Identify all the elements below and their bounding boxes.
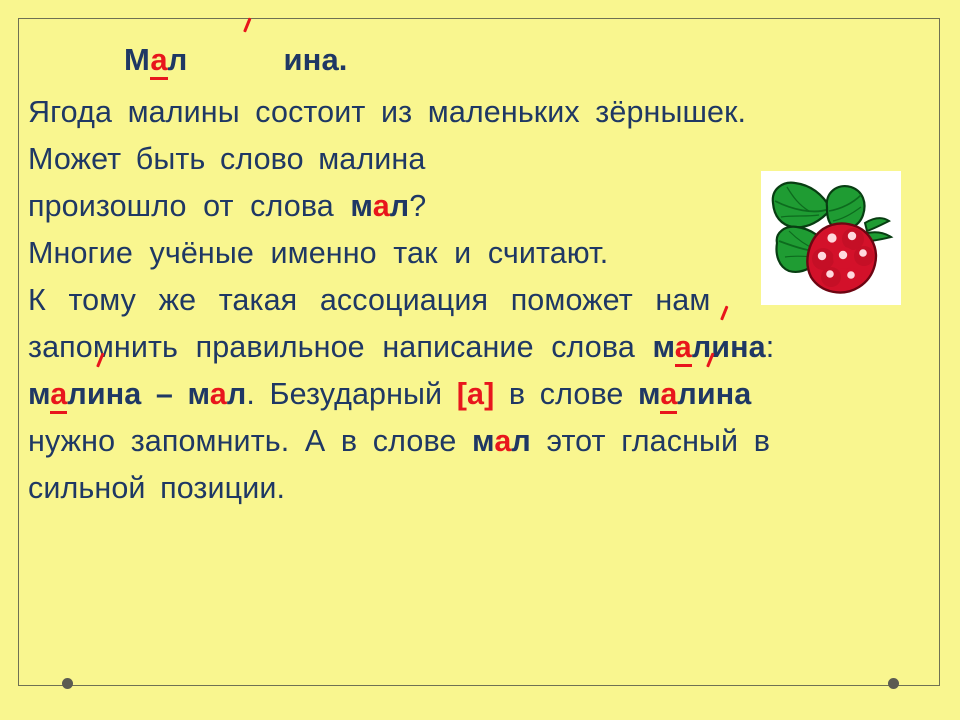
line7-wordA-vowel: а <box>50 377 67 414</box>
line8-prefix: нужно запомнить. А в слове <box>28 424 472 458</box>
line7-wordA-middle: ли <box>67 377 105 411</box>
line6-prefix: запомнить правильное написание слова <box>28 330 652 364</box>
line3-word-end: л <box>390 189 409 223</box>
decorative-dot-right <box>888 678 899 689</box>
slide-canvas: Малина. Ягода малины состоит из маленьки… <box>0 0 960 720</box>
body-line-8: нужно запомнить. А в слове мал этот глас… <box>28 418 934 465</box>
line6-word-start: м <box>652 330 674 364</box>
body-line-7: малина – мал. Безударный [а] в слове мал… <box>28 371 934 418</box>
title-trailing: . <box>339 42 348 77</box>
title-part-after: на <box>303 42 339 77</box>
title-part-middle-wrap: ли <box>168 42 303 77</box>
line6-word-end: на <box>730 330 766 364</box>
stress-mark-title: и <box>187 36 302 83</box>
line7-wordA-start: м <box>28 377 50 411</box>
stress-mark-line6: и <box>711 324 730 371</box>
line7-wordA-end: на <box>106 377 142 411</box>
line6-suffix: : <box>766 330 775 364</box>
line8-word-start: м <box>472 424 494 458</box>
line7-wordC-start: м <box>638 377 660 411</box>
line7-wordB-end: л <box>227 377 246 411</box>
decorative-dot-left <box>62 678 73 689</box>
line3-stressed-vowel: а <box>373 189 390 223</box>
line7-wordC-middle: ли <box>677 377 715 411</box>
line7-dash: – <box>141 377 187 411</box>
line7-wordB-start: м <box>188 377 210 411</box>
line7-wordB-vowel: а <box>210 377 227 411</box>
title-stressed-vowel: а <box>150 42 167 80</box>
body-line-1: Ягода малины состоит из маленьких зёрныш… <box>28 89 934 136</box>
raspberry-illustration <box>761 171 901 305</box>
body-line-9: сильной позиции. <box>28 465 934 512</box>
line3-word-start: м <box>350 189 372 223</box>
line6-stressed-vowel: а <box>675 330 692 367</box>
line8-word-end: л <box>511 424 530 458</box>
line3-suffix: ? <box>409 189 426 223</box>
raspberry-icon <box>761 171 901 305</box>
line7-bracket-sound: [а] <box>457 377 495 411</box>
line3-prefix: произошло от слова <box>28 189 350 223</box>
line8-stressed-vowel: а <box>494 424 511 458</box>
body-line-6: запомнить правильное написание слова мал… <box>28 324 934 371</box>
line8-suffix: этот гласный в <box>531 424 770 458</box>
title-part-before: М <box>124 42 150 77</box>
line7-wordC-end: на <box>716 377 752 411</box>
stress-mark-line7-c: и <box>697 371 716 418</box>
line7-mid-text: . Безударный <box>246 377 456 411</box>
line7-wordC-vowel: а <box>660 377 677 414</box>
stress-mark-line7-a: и <box>87 371 106 418</box>
page-title: Малина. <box>28 36 934 83</box>
line7-mid-text-2: в слове <box>494 377 638 411</box>
